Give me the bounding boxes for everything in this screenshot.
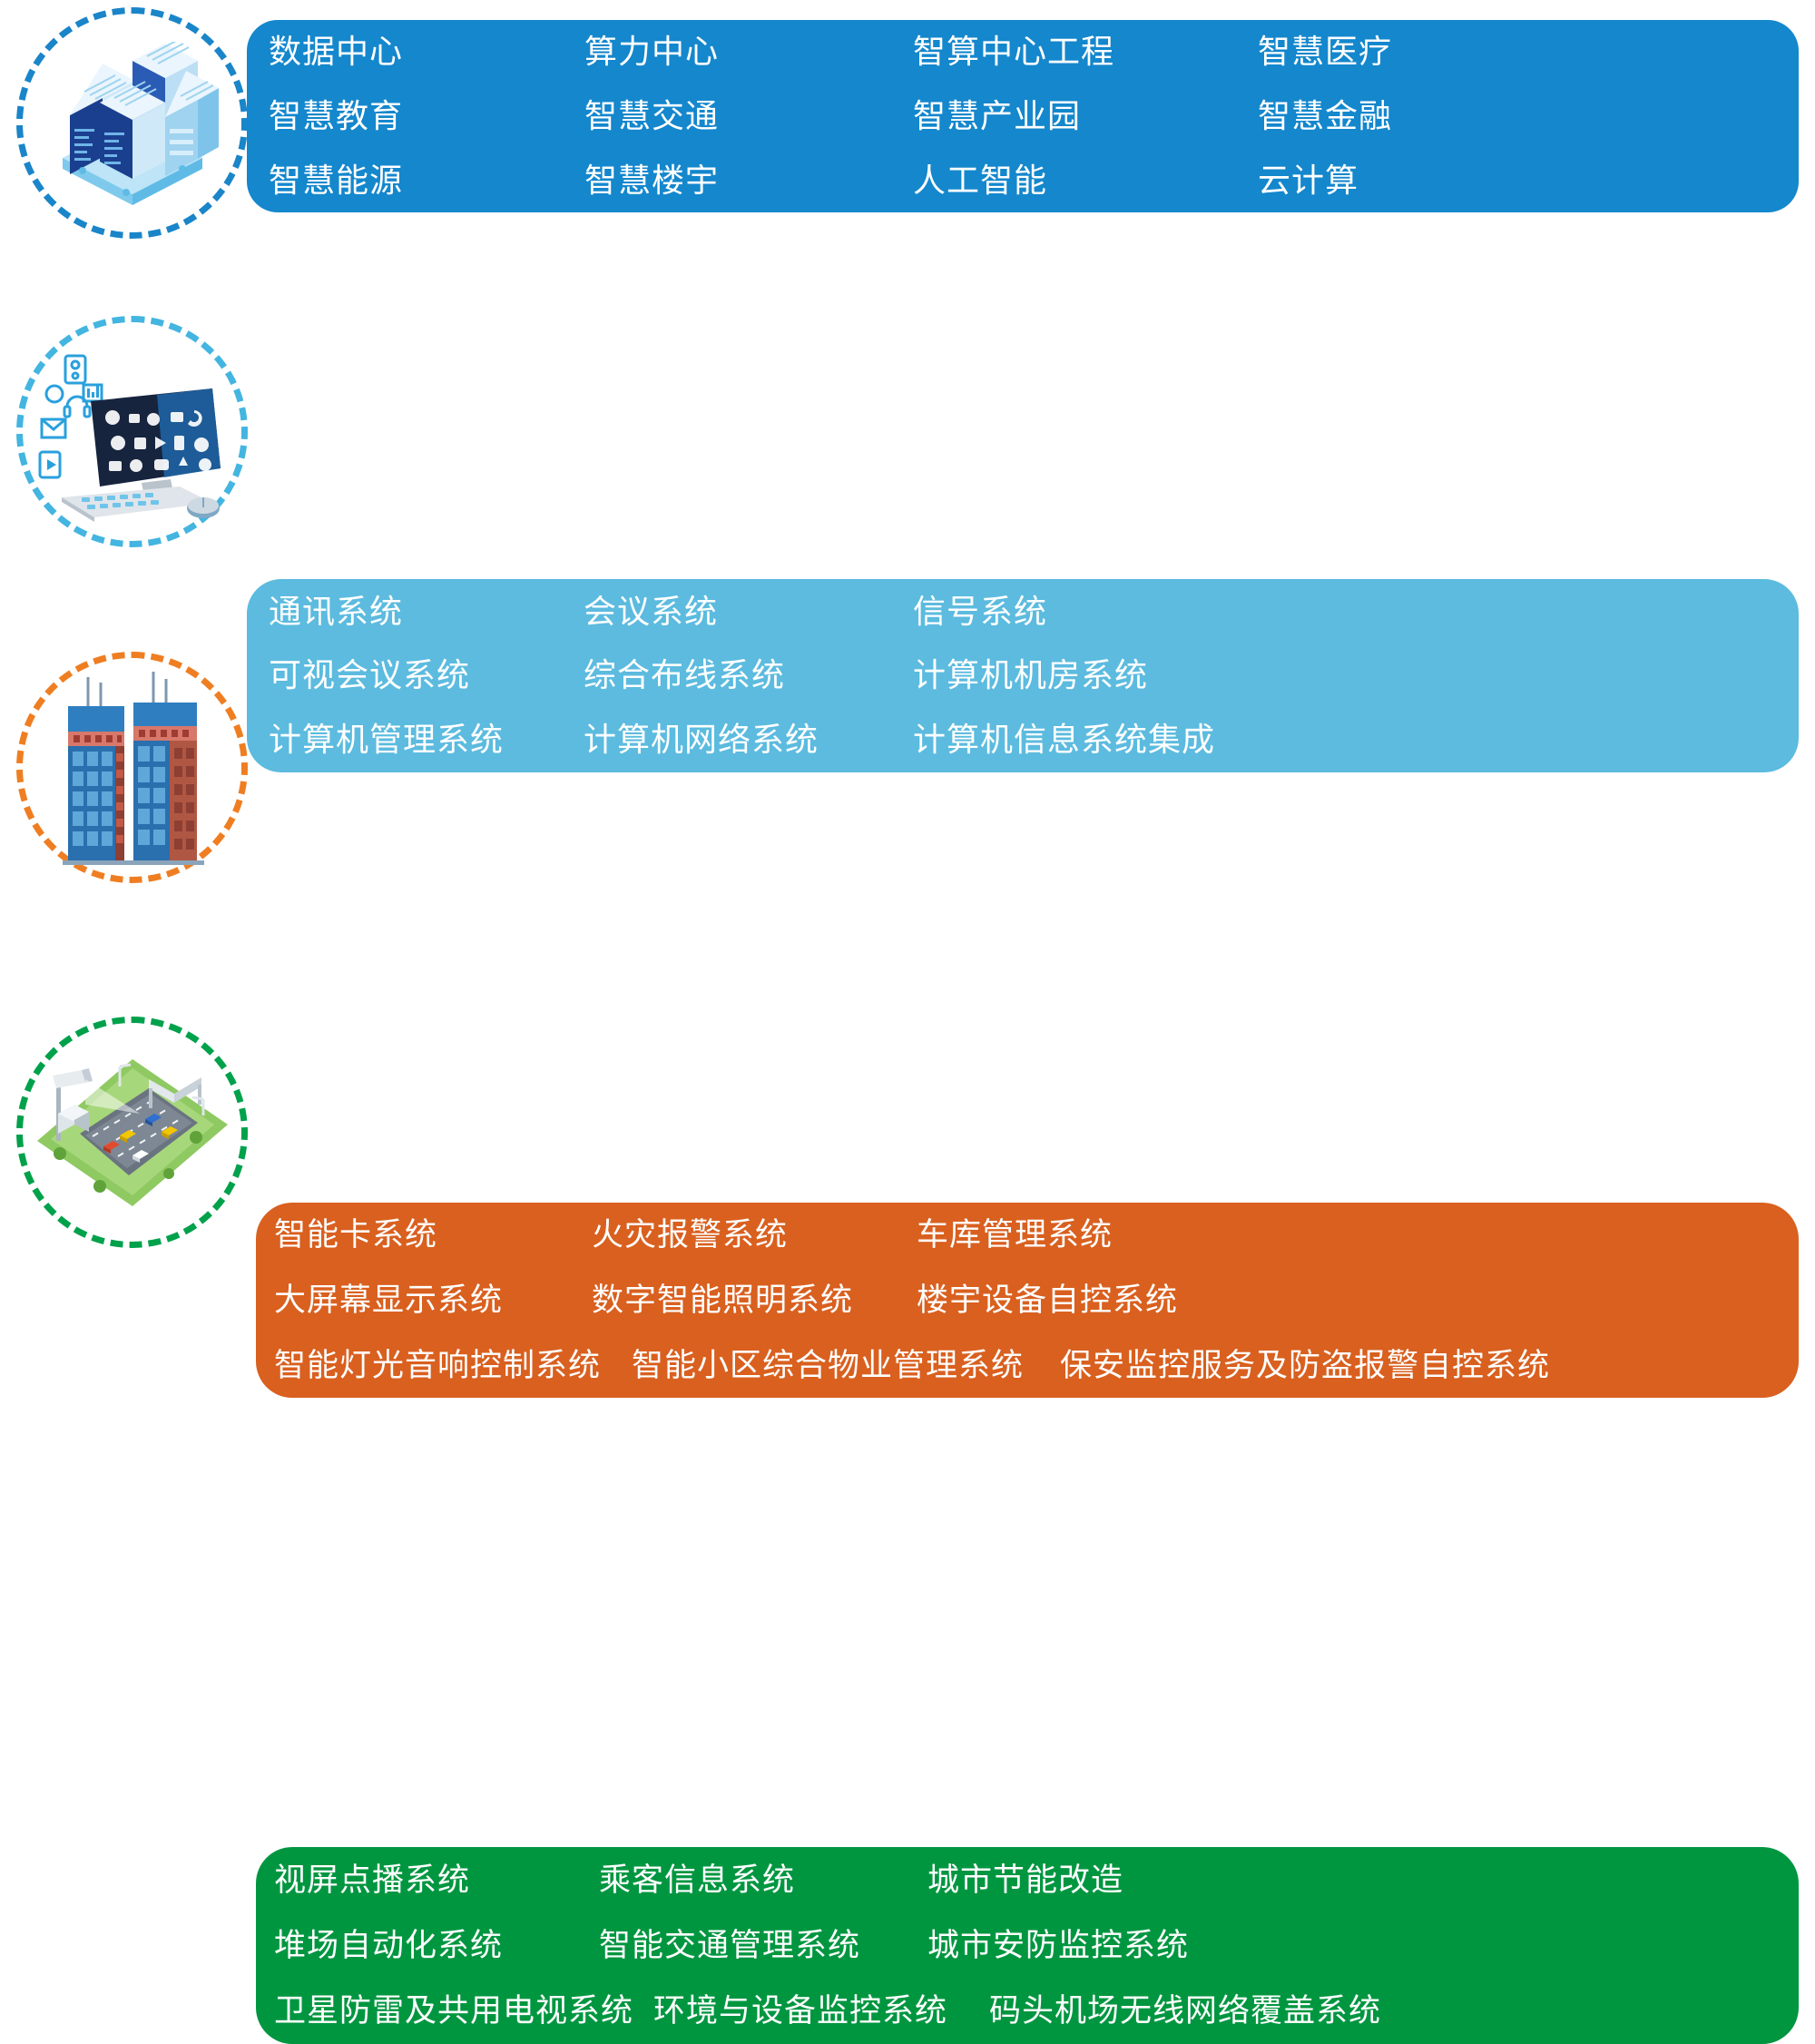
tag-item[interactable]: 智能交通管理系统: [599, 1930, 927, 1961]
tag-item[interactable]: 城市安防监控系统: [927, 1930, 1189, 1961]
tag-item[interactable]: 智慧医疗: [1258, 35, 1392, 68]
tag-item[interactable]: 智慧楼宇: [584, 164, 913, 197]
tag-item[interactable]: 码头机场无线网络覆盖系统: [989, 1995, 1381, 2027]
buildings-icon-ring: [16, 652, 248, 883]
section-data-center: 数据中心 算力中心 智算中心工程 智慧医疗 智慧教育 智慧交通 智慧产业园 智慧…: [0, 0, 1815, 272]
tag-item[interactable]: 智慧产业园: [913, 100, 1258, 133]
tag-item[interactable]: 云计算: [1258, 164, 1359, 197]
tag-item[interactable]: 智慧教育: [269, 100, 584, 133]
smart-city-surveillance-icon: [23, 1023, 241, 1242]
panel-data-center: 数据中心 算力中心 智算中心工程 智慧医疗 智慧教育 智慧交通 智慧产业园 智慧…: [247, 20, 1799, 212]
tag-item[interactable]: 算力中心: [584, 35, 913, 68]
panel-line: 卫星防雷及共用电视系统 环境与设备监控系统 码头机场无线网络覆盖系统: [274, 1979, 1799, 2044]
tag-item[interactable]: 智慧金融: [1258, 100, 1392, 133]
tag-item[interactable]: 城市节能改造: [927, 1864, 1123, 1896]
panel-line: 堆场自动化系统 智能交通管理系统 城市安防监控系统: [274, 1912, 1799, 1978]
tag-item[interactable]: 人工智能: [913, 164, 1258, 197]
tag-item[interactable]: 智慧交通: [584, 100, 913, 133]
tag-item[interactable]: 数据中心: [269, 35, 584, 68]
city-buildings-icon: [23, 658, 241, 877]
tag-item[interactable]: 乘客信息系统: [599, 1864, 927, 1896]
tag-item[interactable]: 环境与设备监控系统: [653, 1995, 947, 2027]
section-smart-city: 视屏点播系统 乘客信息系统 城市节能改造 堆场自动化系统 智能交通管理系统 城市…: [0, 998, 1815, 1341]
panel-line: 智慧教育 智慧交通 智慧产业园 智慧金融: [269, 84, 1799, 149]
section-computer-systems: 通讯系统 会议系统 信号系统 可视会议系统 综合布线系统 计算机机房系统 计算机…: [0, 272, 1815, 626]
tag-item[interactable]: 智能小区综合物业管理系统: [632, 1350, 1024, 1381]
panel-line: 视屏点播系统 乘客信息系统 城市节能改造: [274, 1847, 1799, 1912]
tag-item[interactable]: 智算中心工程: [913, 35, 1258, 68]
tag-item[interactable]: 信号系统: [913, 595, 1047, 628]
panel-line: 数据中心 算力中心 智算中心工程 智慧医疗: [269, 20, 1799, 84]
tag-item[interactable]: 智慧能源: [269, 164, 584, 197]
tag-item[interactable]: 堆场自动化系统: [274, 1930, 599, 1961]
tag-item[interactable]: 卫星防雷及共用电视系统: [274, 1995, 633, 2027]
panel-line: 智能灯光音响控制系统 智能小区综合物业管理系统 保安监控服务及防盗报警自控系统: [274, 1332, 1799, 1398]
smart-city-icon-ring: [16, 1017, 248, 1248]
tag-item[interactable]: 保安监控服务及防盗报警自控系统: [1060, 1350, 1550, 1381]
tag-item[interactable]: 智能灯光音响控制系统: [274, 1350, 601, 1381]
computer-icon-ring: [16, 316, 248, 547]
section-intelligent-building: 智能卡系统 火灾报警系统 车库管理系统 大屏幕显示系统 数字智能照明系统 楼宇设…: [0, 626, 1815, 998]
tag-item[interactable]: 视屏点播系统: [274, 1864, 599, 1896]
desktop-computer-icon: [23, 322, 241, 541]
tag-item[interactable]: 通讯系统: [269, 595, 584, 628]
panel-line: 智慧能源 智慧楼宇 人工智能 云计算: [269, 148, 1799, 212]
infographic-page: 数据中心 算力中心 智算中心工程 智慧医疗 智慧教育 智慧交通 智慧产业园 智慧…: [0, 0, 1815, 1341]
tag-item[interactable]: 会议系统: [584, 595, 913, 628]
data-center-icon-ring: [16, 7, 248, 239]
data-center-icon: [23, 14, 241, 232]
panel-smart-city: 视屏点播系统 乘客信息系统 城市节能改造 堆场自动化系统 智能交通管理系统 城市…: [256, 1847, 1799, 2044]
